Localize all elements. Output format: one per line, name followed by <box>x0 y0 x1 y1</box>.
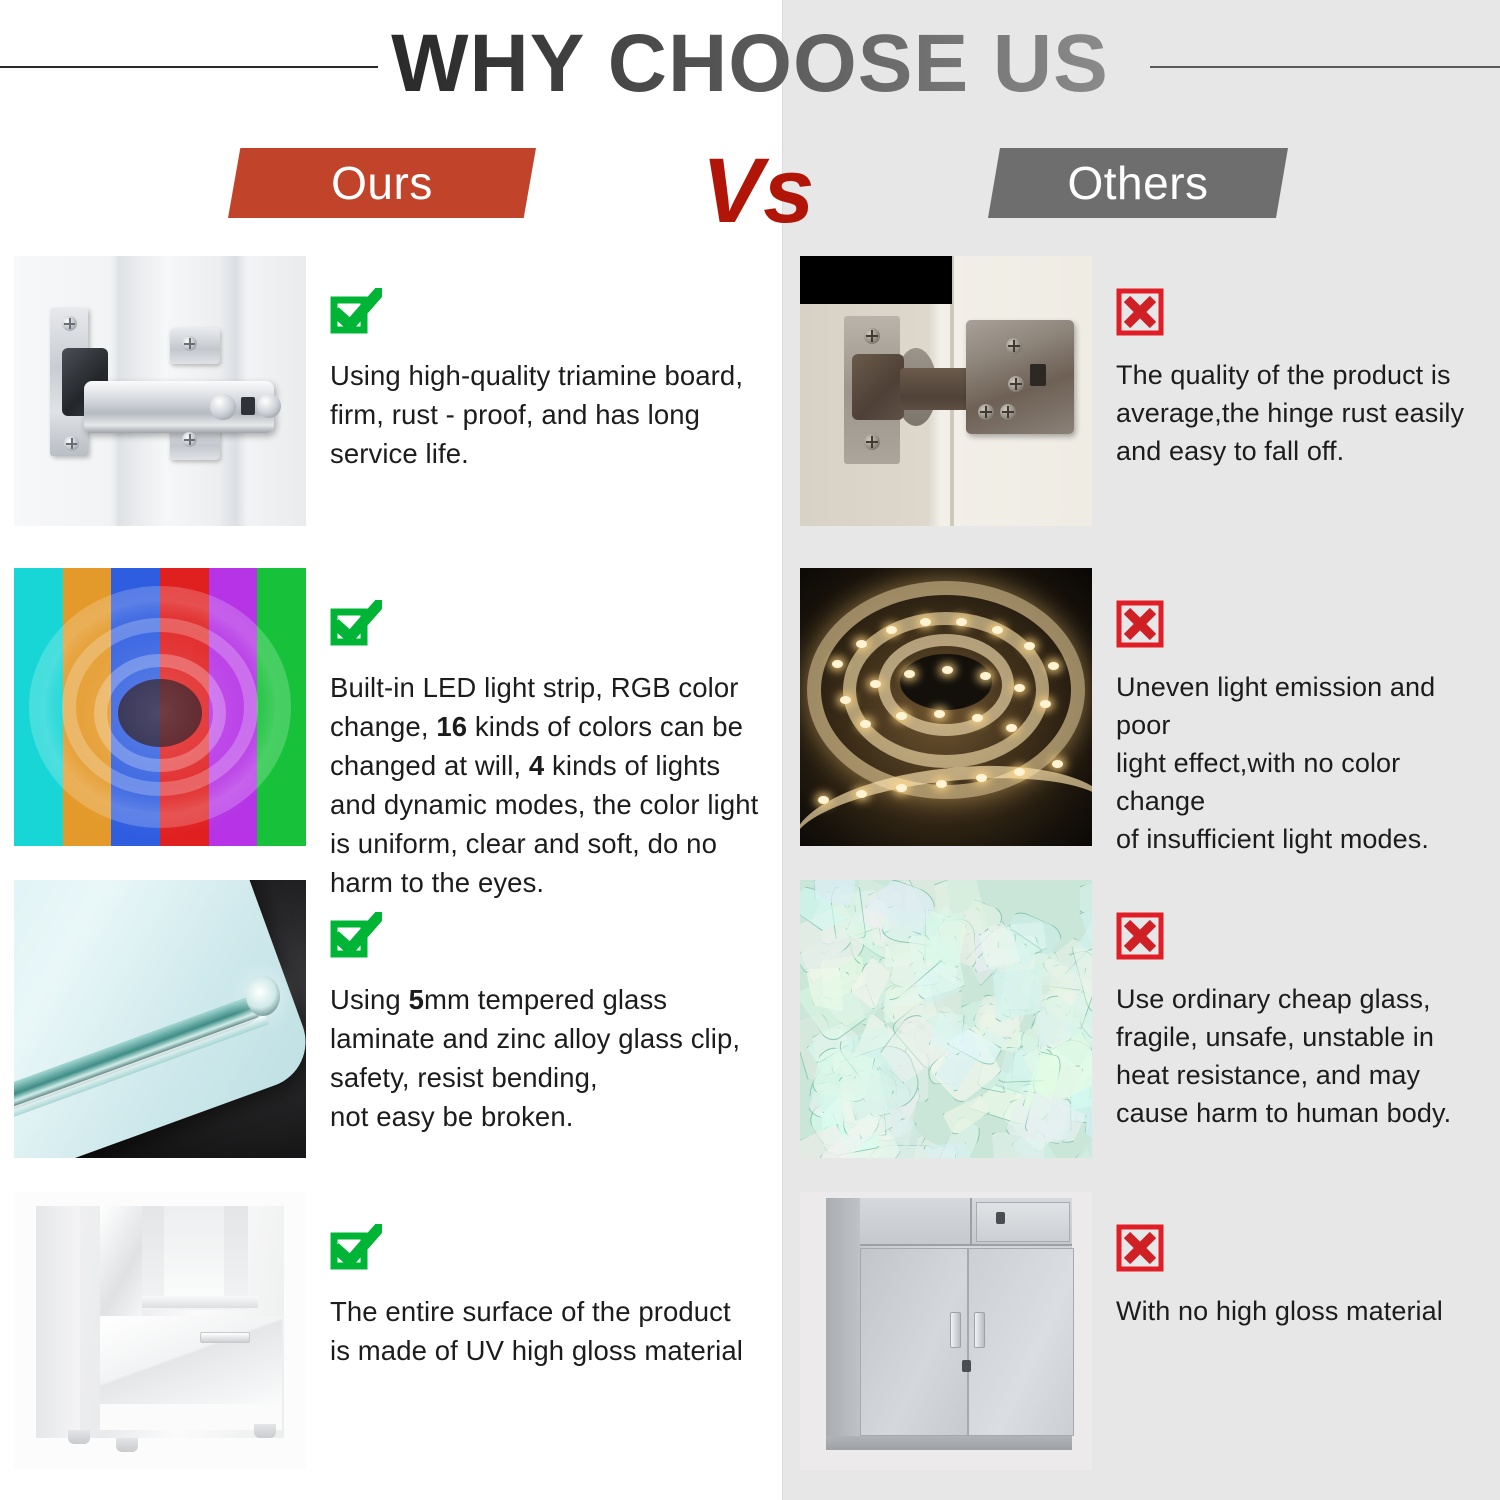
comparison-row-2: Built-in LED light strip, RGB color chan… <box>0 568 1500 880</box>
page-title: WHY CHOOSE US <box>0 14 1500 114</box>
cross-box-icon-svg <box>1116 600 1164 648</box>
check-box-icon-svg <box>330 600 382 652</box>
gray-metal-cabinet-photo <box>800 1192 1092 1470</box>
check-box-icon-svg <box>330 288 382 340</box>
row-3-ours-text: Using 5mm tempered glass laminate and zi… <box>330 980 774 1136</box>
header: WHY CHOOSE US <box>0 0 1500 135</box>
ours-badge-label: Ours <box>331 156 433 210</box>
comparison-rows: Using high-quality triamine board, firm,… <box>0 256 1500 1492</box>
warm-white-led-strip-photo <box>800 568 1092 846</box>
rgb-led-strip-photo <box>14 568 306 846</box>
row-3-others-cell: Use ordinary cheap glass, fragile, unsaf… <box>800 880 1490 1158</box>
others-badge: Others <box>988 148 1288 218</box>
row-2-ours-copy: Built-in LED light strip, RGB color chan… <box>306 568 774 902</box>
comparison-row-1: Using high-quality triamine board, firm,… <box>0 256 1500 568</box>
broken-glass-shards-photo <box>800 880 1092 1158</box>
check-box-icon <box>330 906 394 966</box>
row-1-others-text: The quality of the product is average,th… <box>1116 356 1490 470</box>
cross-box-icon <box>1116 1218 1180 1278</box>
row-3-ours-cell: Using 5mm tempered glass laminate and zi… <box>14 880 774 1158</box>
chrome-cabinet-hinge-photo <box>14 256 306 526</box>
why-choose-us-infographic: WHY CHOOSE US Ours Vs Others <box>0 0 1500 1500</box>
row-1-others-cell: The quality of the product is average,th… <box>800 256 1490 526</box>
cross-box-icon <box>1116 906 1180 966</box>
row-4-ours-copy: The entire surface of the product is mad… <box>306 1192 774 1470</box>
check-box-icon <box>330 594 394 654</box>
row-1-ours-cell: Using high-quality triamine board, firm,… <box>14 256 774 526</box>
row-4-others-text: With no high gloss material <box>1116 1292 1490 1330</box>
check-box-icon-svg <box>330 912 382 964</box>
row-2-others-cell: Uneven light emission and poor light eff… <box>800 568 1490 858</box>
row-3-others-copy: Use ordinary cheap glass, fragile, unsaf… <box>1092 880 1490 1158</box>
cross-box-icon <box>1116 282 1180 342</box>
others-badge-label: Others <box>1067 156 1208 210</box>
rusty-cabinet-hinge-photo <box>800 256 1092 526</box>
tempered-glass-corner-photo <box>14 880 306 1158</box>
white-gloss-cabinet-photo <box>14 1192 306 1470</box>
row-2-ours-text: Built-in LED light strip, RGB color chan… <box>330 668 774 902</box>
vs-label: Vs <box>678 136 838 246</box>
comparison-row-3: Using 5mm tempered glass laminate and zi… <box>0 880 1500 1192</box>
check-box-icon-svg <box>330 1224 382 1276</box>
ours-badge: Ours <box>228 148 536 218</box>
row-4-ours-cell: The entire surface of the product is mad… <box>14 1192 774 1470</box>
row-2-others-text: Uneven light emission and poor light eff… <box>1116 668 1490 858</box>
check-box-icon <box>330 1218 394 1278</box>
row-2-others-copy: Uneven light emission and poor light eff… <box>1092 568 1490 858</box>
cross-box-icon-svg <box>1116 288 1164 336</box>
row-4-others-copy: With no high gloss material <box>1092 1192 1490 1470</box>
row-3-others-text: Use ordinary cheap glass, fragile, unsaf… <box>1116 980 1490 1132</box>
row-2-ours-cell: Built-in LED light strip, RGB color chan… <box>14 568 774 902</box>
row-1-ours-text: Using high-quality triamine board, firm,… <box>330 356 774 473</box>
row-4-others-cell: With no high gloss material <box>800 1192 1490 1470</box>
row-1-others-copy: The quality of the product is average,th… <box>1092 256 1490 526</box>
cross-box-icon-svg <box>1116 912 1164 960</box>
comparison-row-4: The entire surface of the product is mad… <box>0 1192 1500 1492</box>
row-3-ours-copy: Using 5mm tempered glass laminate and zi… <box>306 880 774 1158</box>
cross-box-icon-svg <box>1116 1224 1164 1272</box>
row-1-ours-copy: Using high-quality triamine board, firm,… <box>306 256 774 526</box>
row-4-ours-text: The entire surface of the product is mad… <box>330 1292 774 1370</box>
check-box-icon <box>330 282 394 342</box>
comparison-banner-row: Ours Vs Others <box>0 140 1500 240</box>
cross-box-icon <box>1116 594 1180 654</box>
